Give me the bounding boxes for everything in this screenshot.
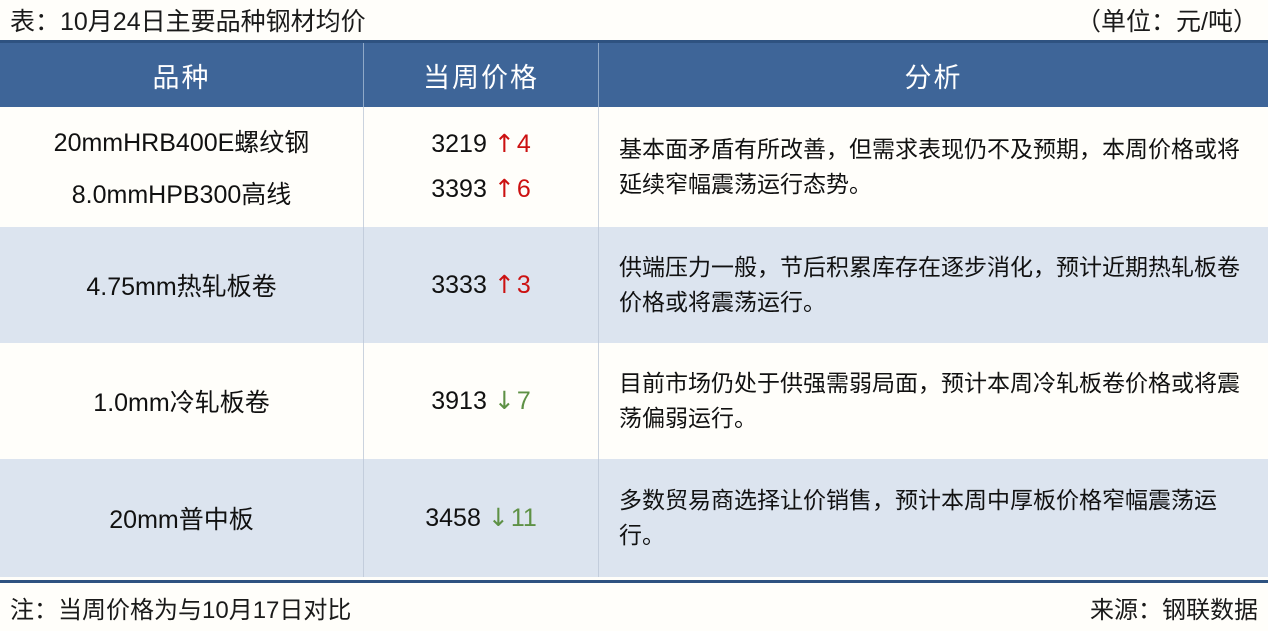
variety-cell: 4.75mm热轧板卷 (0, 227, 363, 343)
price-line: 3458 ↓ 11 (425, 504, 537, 533)
analysis-text: 多数贸易商选择让价销售，预计本周中厚板价格窄幅震荡运行。 (605, 483, 1262, 553)
table-row: 20mm普中板 3458 ↓ 11 多数贸易商选择让价销售，预计本周中厚板价格窄… (0, 459, 1268, 577)
variety-name: 20mm普中板 (109, 500, 253, 536)
price-value: 3913 (431, 387, 487, 416)
column-header-analysis: 分析 (598, 43, 1268, 107)
source-label: 来源：钢联数据 (1090, 590, 1258, 625)
price-value: 3219 (431, 130, 487, 159)
price-line: 3333 ↑ 3 (431, 271, 530, 300)
price-cell: 3458 ↓ 11 (363, 459, 598, 577)
table-header-row: 品种 当周价格 分析 (0, 43, 1268, 107)
column-header-weekly-price: 当周价格 (363, 43, 598, 107)
table-row: 20mmHRB400E螺纹钢 8.0mmHPB300高线 3219 ↑ 4 33… (0, 107, 1268, 227)
price-value: 3458 (425, 504, 481, 533)
price-cell: 3913 ↓ 7 (363, 343, 598, 459)
price-line: 3219 ↑ 4 (431, 130, 530, 159)
title-bar: 表：10月24日主要品种钢材均价 （单位：元/吨） (0, 0, 1268, 40)
price-change-down: ↓ 11 (488, 504, 537, 533)
steel-price-table-page: 表：10月24日主要品种钢材均价 （单位：元/吨） 品种 当周价格 分析 20m… (0, 0, 1268, 631)
analysis-text: 目前市场仍处于供强需弱局面，预计本周冷轧板卷价格或将震荡偏弱运行。 (605, 366, 1262, 436)
price-change-up: ↑ 3 (494, 271, 531, 300)
price-change-up: ↑ 6 (494, 175, 531, 204)
price-value: 3333 (431, 271, 487, 300)
price-value: 3393 (431, 175, 487, 204)
price-table: 品种 当周价格 分析 20mmHRB400E螺纹钢 8.0mmHPB300高线 … (0, 40, 1268, 583)
variety-cell: 20mmHRB400E螺纹钢 8.0mmHPB300高线 (0, 107, 363, 227)
arrow-down-icon: ↓ (494, 388, 515, 413)
variety-name: 1.0mm冷轧板卷 (93, 383, 269, 419)
arrow-up-icon: ↑ (494, 272, 515, 297)
price-cell: 3333 ↑ 3 (363, 227, 598, 343)
price-change-up: ↑ 4 (494, 130, 531, 159)
variety-name: 20mmHRB400E螺纹钢 (54, 123, 310, 159)
price-line: 3393 ↑ 6 (431, 175, 530, 204)
price-change-value: 11 (511, 504, 537, 533)
column-header-variety: 品种 (0, 43, 363, 107)
variety-cell: 20mm普中板 (0, 459, 363, 577)
price-change-down: ↓ 7 (494, 387, 531, 416)
price-change-value: 6 (517, 175, 531, 204)
price-change-value: 3 (517, 271, 531, 300)
table-row: 1.0mm冷轧板卷 3913 ↓ 7 目前市场仍处于供强需弱局面，预计本周冷轧板… (0, 343, 1268, 459)
table-row: 4.75mm热轧板卷 3333 ↑ 3 供端压力一般，节后积累库存在逐步消化，预… (0, 227, 1268, 343)
analysis-cell: 供端压力一般，节后积累库存在逐步消化，预计近期热轧板卷价格或将震荡运行。 (598, 227, 1268, 343)
price-change-value: 7 (517, 387, 531, 416)
analysis-cell: 多数贸易商选择让价销售，预计本周中厚板价格窄幅震荡运行。 (598, 459, 1268, 577)
price-line: 3913 ↓ 7 (431, 387, 530, 416)
unit-label: （单位：元/吨） (1076, 2, 1258, 38)
analysis-text: 供端压力一般，节后积累库存在逐步消化，预计近期热轧板卷价格或将震荡运行。 (605, 250, 1262, 320)
variety-name: 8.0mmHPB300高线 (72, 175, 292, 211)
footer-bar: 注：当周价格为与10月17日对比 来源：钢联数据 (0, 583, 1268, 631)
price-change-value: 4 (517, 130, 531, 159)
page-title: 表：10月24日主要品种钢材均价 (10, 2, 366, 38)
analysis-cell: 基本面矛盾有所改善，但需求表现仍不及预期，本周价格或将延续窄幅震荡运行态势。 (598, 107, 1268, 227)
variety-name: 4.75mm热轧板卷 (86, 267, 276, 303)
arrow-down-icon: ↓ (488, 505, 509, 530)
analysis-text: 基本面矛盾有所改善，但需求表现仍不及预期，本周价格或将延续窄幅震荡运行态势。 (605, 132, 1262, 202)
price-cell: 3219 ↑ 4 3393 ↑ 6 (363, 107, 598, 227)
footnote: 注：当周价格为与10月17日对比 (10, 590, 351, 625)
analysis-cell: 目前市场仍处于供强需弱局面，预计本周冷轧板卷价格或将震荡偏弱运行。 (598, 343, 1268, 459)
arrow-up-icon: ↑ (494, 131, 515, 156)
arrow-up-icon: ↑ (494, 176, 515, 201)
variety-cell: 1.0mm冷轧板卷 (0, 343, 363, 459)
